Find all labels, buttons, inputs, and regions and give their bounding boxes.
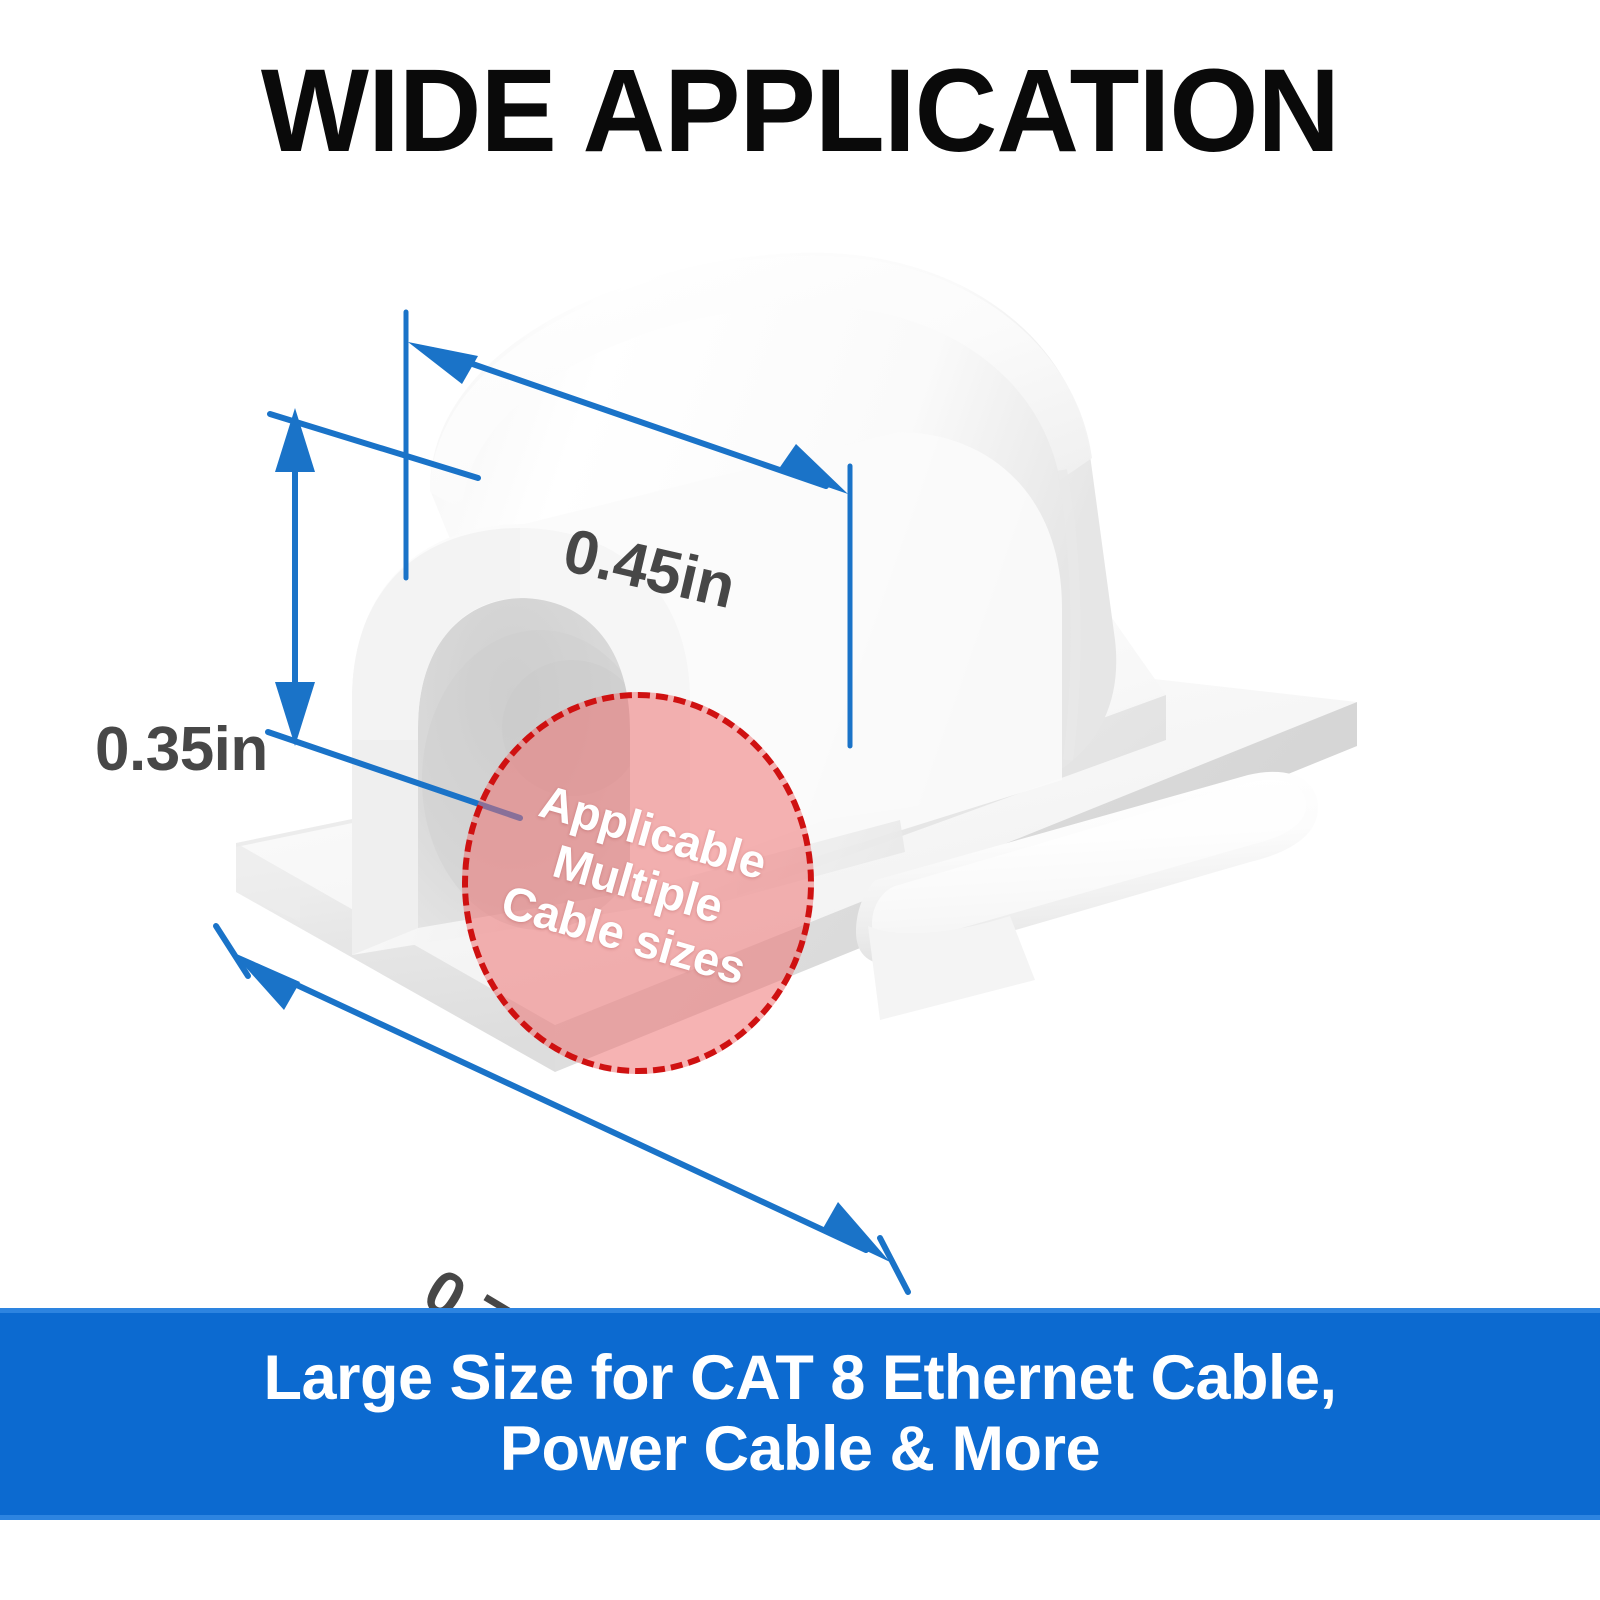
arrowhead-depth-left [232,952,300,1010]
page-title: WIDE APPLICATION [24,52,1576,170]
product-illustration: 0.45in 0.35in 0.71in Applicable Multiple… [0,180,1600,1300]
banner-text: Large Size for CAT 8 Ethernet Cable, Pow… [263,1343,1336,1484]
banner-line-1: Large Size for CAT 8 Ethernet Cable, [263,1343,1336,1414]
badge-text: Applicable Multiple Cable sizes [495,771,780,995]
arrowhead-width-left [408,342,478,384]
dimension-label-height: 0.35in [95,714,268,785]
banner-line-2: Power Cable & More [263,1414,1336,1485]
bottom-banner: Large Size for CAT 8 Ethernet Cable, Pow… [0,1308,1600,1520]
applicable-cable-sizes-badge: Applicable Multiple Cable sizes [462,692,814,1074]
ext-tick-depth-left [216,926,248,976]
ext-tick-depth-right [880,1238,908,1292]
arrowhead-depth-right [822,1202,890,1262]
